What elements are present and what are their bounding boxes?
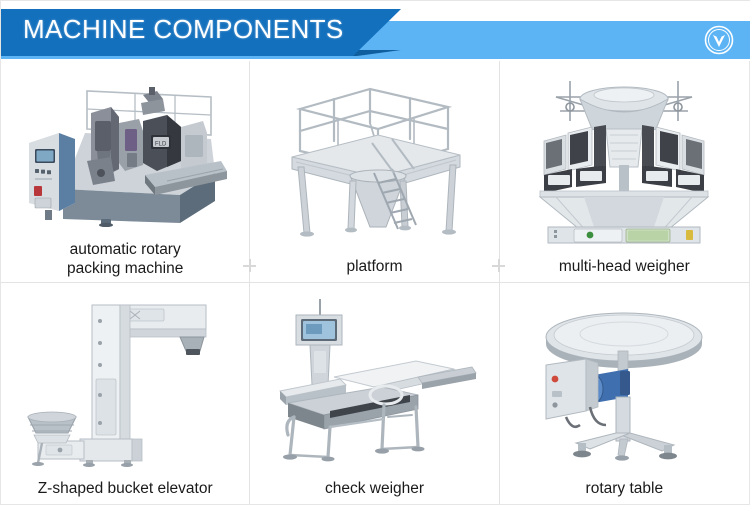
rotary-packing-machine-photo-icon: FLD — [7, 65, 243, 240]
check-weigher-photo-icon — [256, 287, 492, 480]
caption-check-weigher: check weigher — [256, 479, 492, 504]
grid-item-multi-head-weigher[interactable]: multi-head weigher — [500, 61, 749, 283]
chevron-down-circle-logo-icon — [703, 24, 735, 56]
svg-text:FLD: FLD — [155, 142, 167, 148]
caption-rotary-table: rotary table — [506, 479, 743, 504]
product-grid: FLD — [1, 61, 749, 504]
caption-multi-head-weigher: multi-head weigher — [506, 257, 743, 282]
page-title: MACHINE COMPONENTS — [23, 14, 344, 45]
caption-line-1: automatic rotary — [7, 240, 243, 259]
caption-line-2: packing machine — [7, 259, 243, 278]
caption-automatic-rotary-packing-machine: automatic rotary packing machine — [7, 240, 243, 282]
grid-item-rotary-table[interactable]: rotary table — [500, 283, 749, 505]
machine-components-page: MACHINE COMPONENTS — [0, 0, 750, 505]
caption-platform: platform — [256, 257, 492, 282]
grid-item-z-shaped-bucket-elevator[interactable]: Z-shaped bucket elevator — [1, 283, 250, 505]
rotary-table-photo-icon — [506, 287, 743, 480]
grid-item-platform[interactable]: platform — [250, 61, 499, 283]
page-header: MACHINE COMPONENTS — [1, 1, 750, 61]
grid-item-automatic-rotary-packing-machine[interactable]: FLD — [1, 61, 250, 283]
z-bucket-elevator-photo-icon — [7, 287, 243, 480]
multihead-weigher-photo-icon — [506, 65, 743, 257]
grid-item-check-weigher[interactable]: check weigher — [250, 283, 499, 505]
caption-z-shaped-bucket-elevator: Z-shaped bucket elevator — [7, 479, 243, 504]
steel-platform-photo-icon — [256, 65, 492, 257]
